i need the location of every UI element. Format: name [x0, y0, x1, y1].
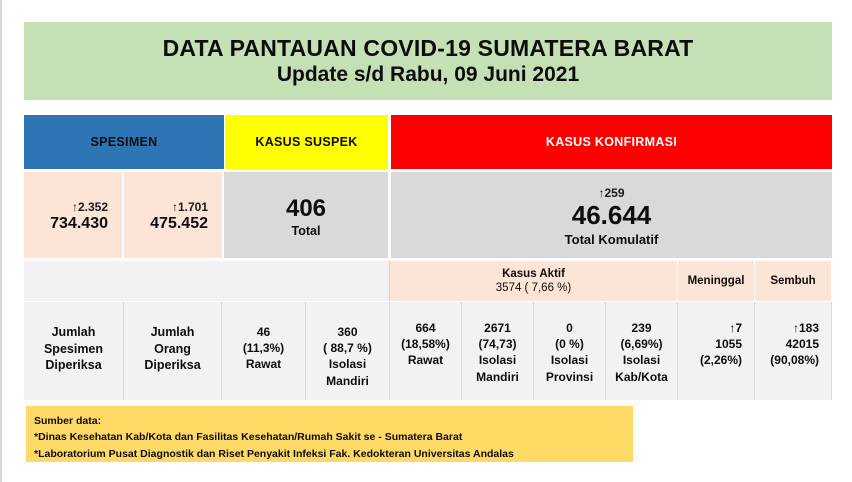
- subheader-sembuh: Sembuh: [755, 261, 832, 301]
- detail-cell-suspek-rawat: 46 (11,3%) Rawat: [222, 302, 306, 400]
- aktif-mandiri-label2: Mandiri: [476, 369, 519, 385]
- suspek-isolasi-label1: Isolasi: [329, 356, 366, 372]
- detail-row: Jumlah Spesimen Diperiksa Jumlah Orang D…: [24, 302, 832, 400]
- spesimen-specimens-value: 734.430: [50, 215, 108, 233]
- konfirmasi-delta: ↑259: [598, 187, 624, 200]
- spesimen-people-value: 475.452: [150, 215, 208, 233]
- aktif-kabkota-value: 239: [631, 320, 651, 336]
- dashboard-page: DATA PANTAUAN COVID-19 SUMATERA BARAT Up…: [0, 0, 852, 482]
- source-note-title: Sumber data:: [34, 413, 633, 429]
- detail-cell-sembuh: ↑183 42015 (90,08%): [755, 302, 832, 400]
- detail-cell-meninggal: ↑7 1055 (2,26%): [678, 302, 755, 400]
- spesimen-specimens-delta-value: 2.352: [78, 200, 108, 214]
- detail-cell-aktif-isolasi-mandiri: 2671 (74,73) Isolasi Mandiri: [462, 302, 534, 400]
- konfirmasi-total-label: Total Komulatif: [565, 232, 659, 247]
- suspek-isolasi-value: 360: [337, 324, 357, 340]
- detail-cell-suspek-isolasi-mandiri: 360 ( 88,7 %) Isolasi Mandiri: [306, 302, 390, 400]
- jumlah-spesimen-line2: Spesimen: [44, 341, 103, 358]
- kasus-aktif-subvalue: 3574 ( 7,66 %): [496, 281, 571, 295]
- jumlah-orang-line1: Jumlah: [151, 324, 195, 341]
- konfirmasi-total-value: 46.644: [572, 201, 652, 230]
- aktif-provinsi-label1: Isolasi: [551, 352, 588, 368]
- category-header-row: SPESIMEN KASUS SUSPEK KASUS KONFIRMASI: [24, 115, 832, 169]
- suspek-rawat-percent: (11,3%): [243, 340, 284, 356]
- spesimen-specimens-delta: ↑2.352: [72, 201, 108, 214]
- page-subtitle: Update s/d Rabu, 09 Juni 2021: [277, 62, 579, 87]
- suspek-isolasi-percent: ( 88,7 %): [323, 340, 372, 356]
- summary-cell-kasus-konfirmasi: ↑259 46.644 Total Komulatif: [391, 172, 832, 258]
- jumlah-spesimen-line3: Diperiksa: [45, 357, 101, 374]
- kasus-aktif-title: Kasus Aktif: [502, 267, 565, 281]
- meninggal-value: 1055: [715, 336, 742, 352]
- subheader-meninggal: Meninggal: [678, 261, 755, 301]
- category-header-kasus-suspek: KASUS SUSPEK: [225, 115, 388, 169]
- sembuh-percent: (90,08%): [770, 352, 819, 368]
- category-header-kasus-konfirmasi: KASUS KONFIRMASI: [391, 115, 832, 169]
- meninggal-percent: (2,26%): [700, 352, 742, 368]
- suspek-isolasi-label2: Mandiri: [326, 373, 369, 389]
- konfirmasi-delta-value: 259: [604, 186, 624, 200]
- aktif-provinsi-percent: (0 %): [555, 336, 584, 352]
- detail-cell-aktif-isolasi-provinsi: 0 (0 %) Isolasi Provinsi: [534, 302, 606, 400]
- suspek-total-label: Total: [292, 224, 321, 238]
- aktif-provinsi-value: 0: [566, 320, 573, 336]
- subheader-kasus-aktif: Kasus Aktif 3574 ( 7,66 %): [390, 261, 678, 301]
- subheader-row: Kasus Aktif 3574 ( 7,66 %) Meninggal Sem…: [24, 261, 832, 301]
- detail-cell-aktif-rawat: 664 (18,58%) Rawat: [390, 302, 462, 400]
- summary-cell-kasus-suspek: 406 Total: [224, 172, 388, 258]
- detail-cell-aktif-isolasi-kabkota: 239 (6,69%) Isolasi Kab/Kota: [606, 302, 678, 400]
- spesimen-people-delta: ↑1.701: [172, 201, 208, 214]
- summary-cell-orang-diperiksa: ↑1.701 475.452: [124, 172, 222, 258]
- source-note: Sumber data: *Dinas Kesehatan Kab/Kota d…: [26, 406, 633, 462]
- page-title: DATA PANTAUAN COVID-19 SUMATERA BARAT: [163, 35, 694, 62]
- aktif-mandiri-percent: (74,73): [478, 336, 516, 352]
- title-banner: DATA PANTAUAN COVID-19 SUMATERA BARAT Up…: [24, 22, 832, 100]
- aktif-rawat-value: 664: [415, 320, 435, 336]
- aktif-mandiri-label1: Isolasi: [479, 352, 516, 368]
- aktif-rawat-percent: (18,58%): [401, 336, 450, 352]
- sembuh-delta: ↑183: [793, 320, 819, 336]
- jumlah-orang-line3: Diperiksa: [144, 357, 200, 374]
- meninggal-delta: ↑7: [729, 320, 742, 336]
- jumlah-spesimen-line1: Jumlah: [52, 324, 96, 341]
- aktif-provinsi-label2: Provinsi: [546, 369, 593, 385]
- aktif-kabkota-label2: Kab/Kota: [615, 369, 668, 385]
- aktif-kabkota-percent: (6,69%): [620, 336, 662, 352]
- jumlah-orang-line2: Orang: [154, 341, 191, 358]
- summary-cell-spesimen-diperiksa: ↑2.352 734.430: [24, 172, 124, 258]
- source-note-line-2: *Laboratorium Pusat Diagnostik dan Riset…: [34, 446, 633, 462]
- summary-row: ↑2.352 734.430 ↑1.701 475.452 406 Total …: [24, 172, 832, 258]
- spesimen-people-delta-value: 1.701: [178, 200, 208, 214]
- aktif-kabkota-label1: Isolasi: [623, 352, 660, 368]
- detail-cell-jumlah-orang: Jumlah Orang Diperiksa: [124, 302, 222, 400]
- detail-cell-jumlah-spesimen: Jumlah Spesimen Diperiksa: [24, 302, 124, 400]
- suspek-rawat-label: Rawat: [246, 356, 281, 372]
- category-header-spesimen: SPESIMEN: [24, 115, 224, 169]
- sembuh-value: 42015: [786, 336, 819, 352]
- subheader-spacer: [24, 261, 390, 301]
- source-note-line-1: *Dinas Kesehatan Kab/Kota dan Fasilitas …: [34, 429, 633, 445]
- suspek-rawat-value: 46: [257, 324, 270, 340]
- suspek-total-value: 406: [286, 196, 326, 222]
- aktif-mandiri-value: 2671: [484, 320, 511, 336]
- aktif-rawat-label: Rawat: [408, 352, 443, 368]
